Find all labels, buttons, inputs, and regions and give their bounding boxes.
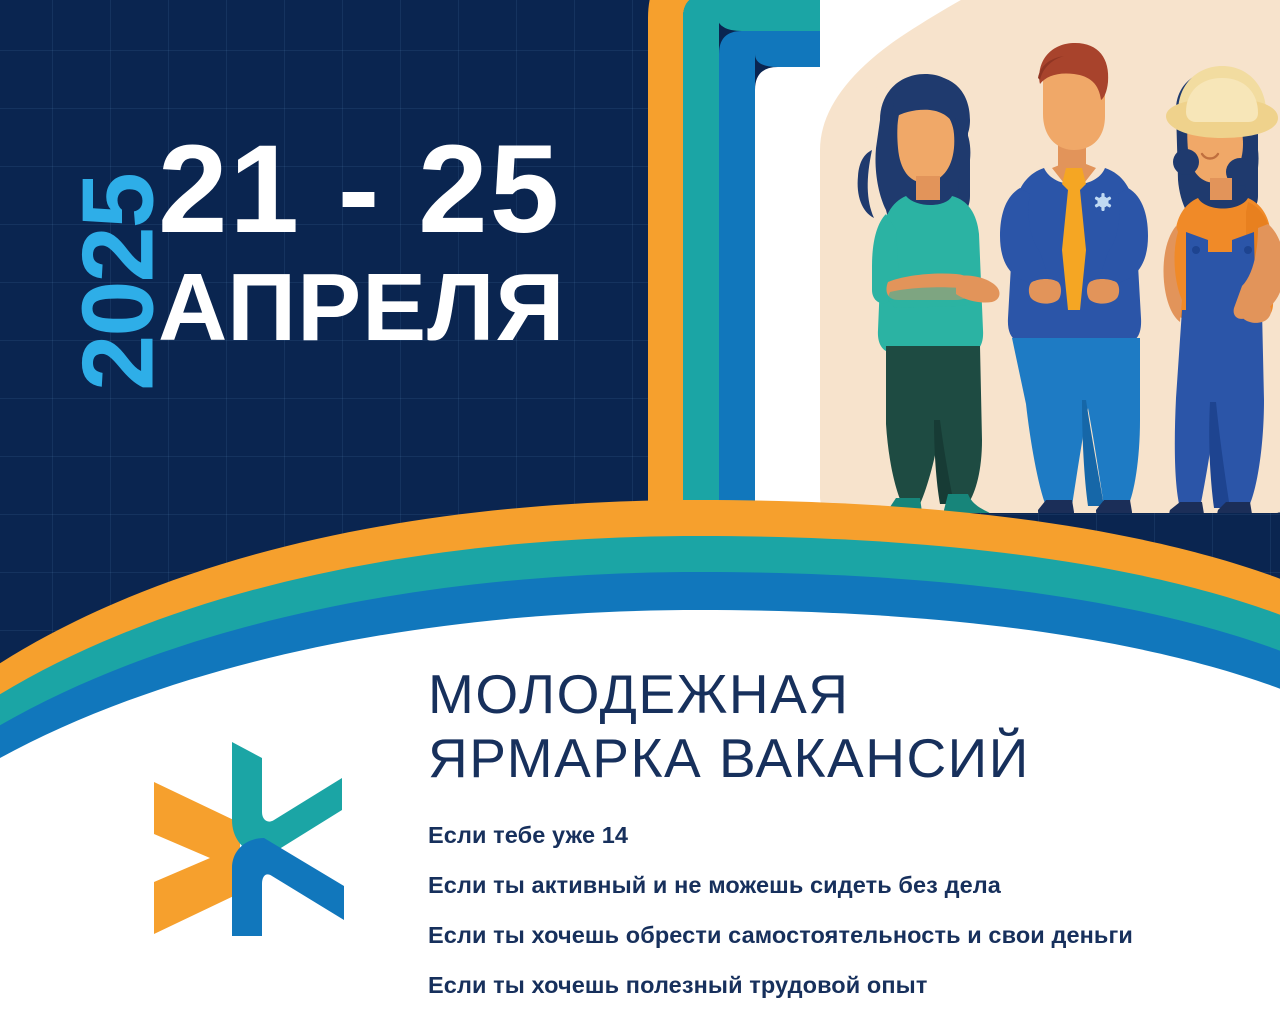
event-month: АПРЕЛЯ [158,260,565,356]
list-item: Если ты активный и не можешь сидеть без … [428,874,1258,898]
three-arrow-burst-logo [148,738,366,940]
logo-orange-chevron [154,782,240,934]
poster-canvas: 2025 21 - 25 АПРЕЛЯ МОЛОДЕЖНАЯ ЯРМАРКА В… [0,0,1280,1036]
event-year: 2025 [69,158,170,408]
list-item: Если ты хочешь обрести самостоятельность… [428,924,1258,948]
logo-teal-hook [232,742,342,856]
page-title: МОЛОДЕЖНАЯ ЯРМАРКА ВАКАНСИЙ [428,662,1218,791]
illustration-panel [810,0,1280,520]
condition-list: Если тебе уже 14 Если ты активный и не м… [428,824,1258,998]
event-date-block: 2025 21 - 25 АПРЕЛЯ [52,120,672,390]
list-item: Если ты хочешь полезный трудовой опыт [428,974,1258,998]
logo-blue-hook [232,838,344,936]
event-date-range: 21 - 25 [158,130,561,250]
page-title-line1: МОЛОДЕЖНАЯ [428,663,849,725]
page-title-line2: ЯРМАРКА ВАКАНСИЙ [428,726,1218,790]
list-item: Если тебе уже 14 [428,824,1258,848]
